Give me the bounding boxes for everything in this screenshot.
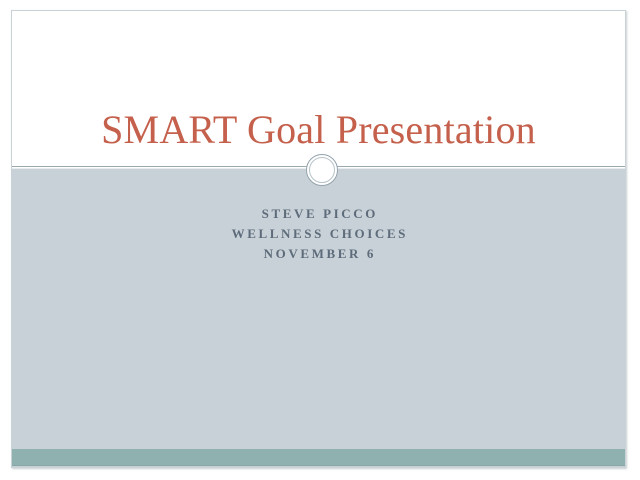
slide-frame: SMART Goal Presentation STEVE PICCO WELL…	[11, 10, 626, 468]
slide-title: SMART Goal Presentation	[12, 107, 625, 153]
circle-ring-ornament-icon	[306, 154, 338, 186]
subtitle-line-topic: WELLNESS CHOICES	[12, 224, 625, 244]
subtitle-block: STEVE PICCO WELLNESS CHOICES NOVEMBER 6	[12, 204, 625, 264]
subtitle-line-date: NOVEMBER 6	[12, 244, 625, 264]
footer-accent-bar-shade	[12, 465, 625, 466]
subtitle-line-presenter: STEVE PICCO	[12, 204, 625, 224]
footer-accent-bar	[12, 449, 625, 466]
slide-canvas: SMART Goal Presentation STEVE PICCO WELL…	[0, 0, 640, 480]
body-band: STEVE PICCO WELLNESS CHOICES NOVEMBER 6	[12, 169, 625, 467]
title-band: SMART Goal Presentation	[12, 11, 625, 166]
